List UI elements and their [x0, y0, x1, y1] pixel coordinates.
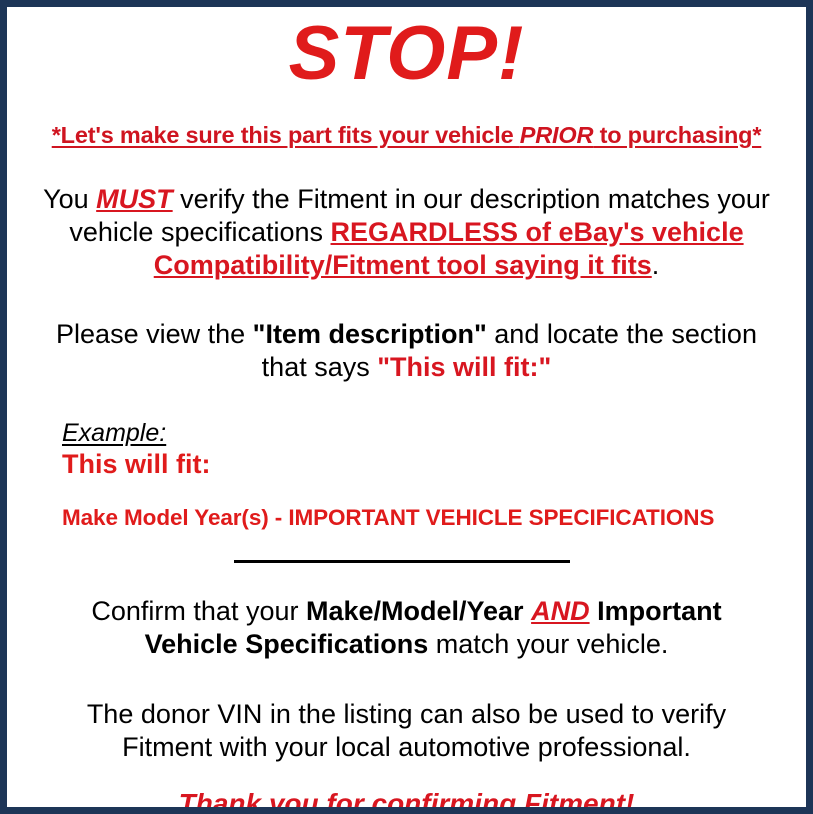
paragraph-must-verify: You MUST verify the Fitment in our descr… [17, 183, 796, 282]
divider-wrapper [17, 560, 796, 563]
desc-seg1: Please view the [56, 319, 253, 349]
confirm-seg1: Confirm that your [91, 596, 306, 626]
must-seg3: . [652, 250, 660, 280]
must-seg1: You [43, 184, 96, 214]
must-emphasis: MUST [96, 184, 173, 214]
horizontal-divider [234, 560, 570, 563]
paragraph-item-description: Please view the "Item description" and l… [17, 318, 796, 384]
example-label: Example: [62, 419, 166, 447]
example-label-row: Example: [62, 419, 796, 447]
confirm-seg3 [590, 596, 598, 626]
confirm-seg4: match your vehicle. [428, 629, 668, 659]
paragraph-donor-vin: The donor VIN in the listing can also be… [17, 698, 796, 764]
and-emphasis: AND [531, 596, 590, 626]
stop-title: STOP! [17, 16, 796, 92]
make-model-year-emphasis: Make/Model/Year [306, 596, 524, 626]
this-will-fit-emphasis: "This will fit:" [377, 352, 551, 382]
headline-banner: *Let's make sure this part fits your veh… [17, 123, 796, 149]
paragraph-confirm: Confirm that your Make/Model/Year AND Im… [17, 595, 796, 661]
headline-emphasis-prior: PRIOR [520, 122, 593, 148]
thank-you-line: Thank you for confirming Fitment! [17, 788, 796, 814]
example-block: Example: This will fit: Make Model Year(… [17, 419, 796, 531]
poster-inner-content: STOP! *Let's make sure this part fits yo… [7, 16, 806, 814]
example-spec-line: Make Model Year(s) - IMPORTANT VEHICLE S… [62, 505, 796, 531]
headline-part2: to purchasing* [593, 122, 761, 148]
item-description-emphasis: "Item description" [253, 319, 487, 349]
example-fit-line: This will fit: [62, 449, 796, 479]
headline-part1: *Let's make sure this part fits your veh… [52, 122, 520, 148]
fitment-warning-poster: STOP! *Let's make sure this part fits yo… [0, 0, 813, 814]
confirm-seg2 [524, 596, 532, 626]
